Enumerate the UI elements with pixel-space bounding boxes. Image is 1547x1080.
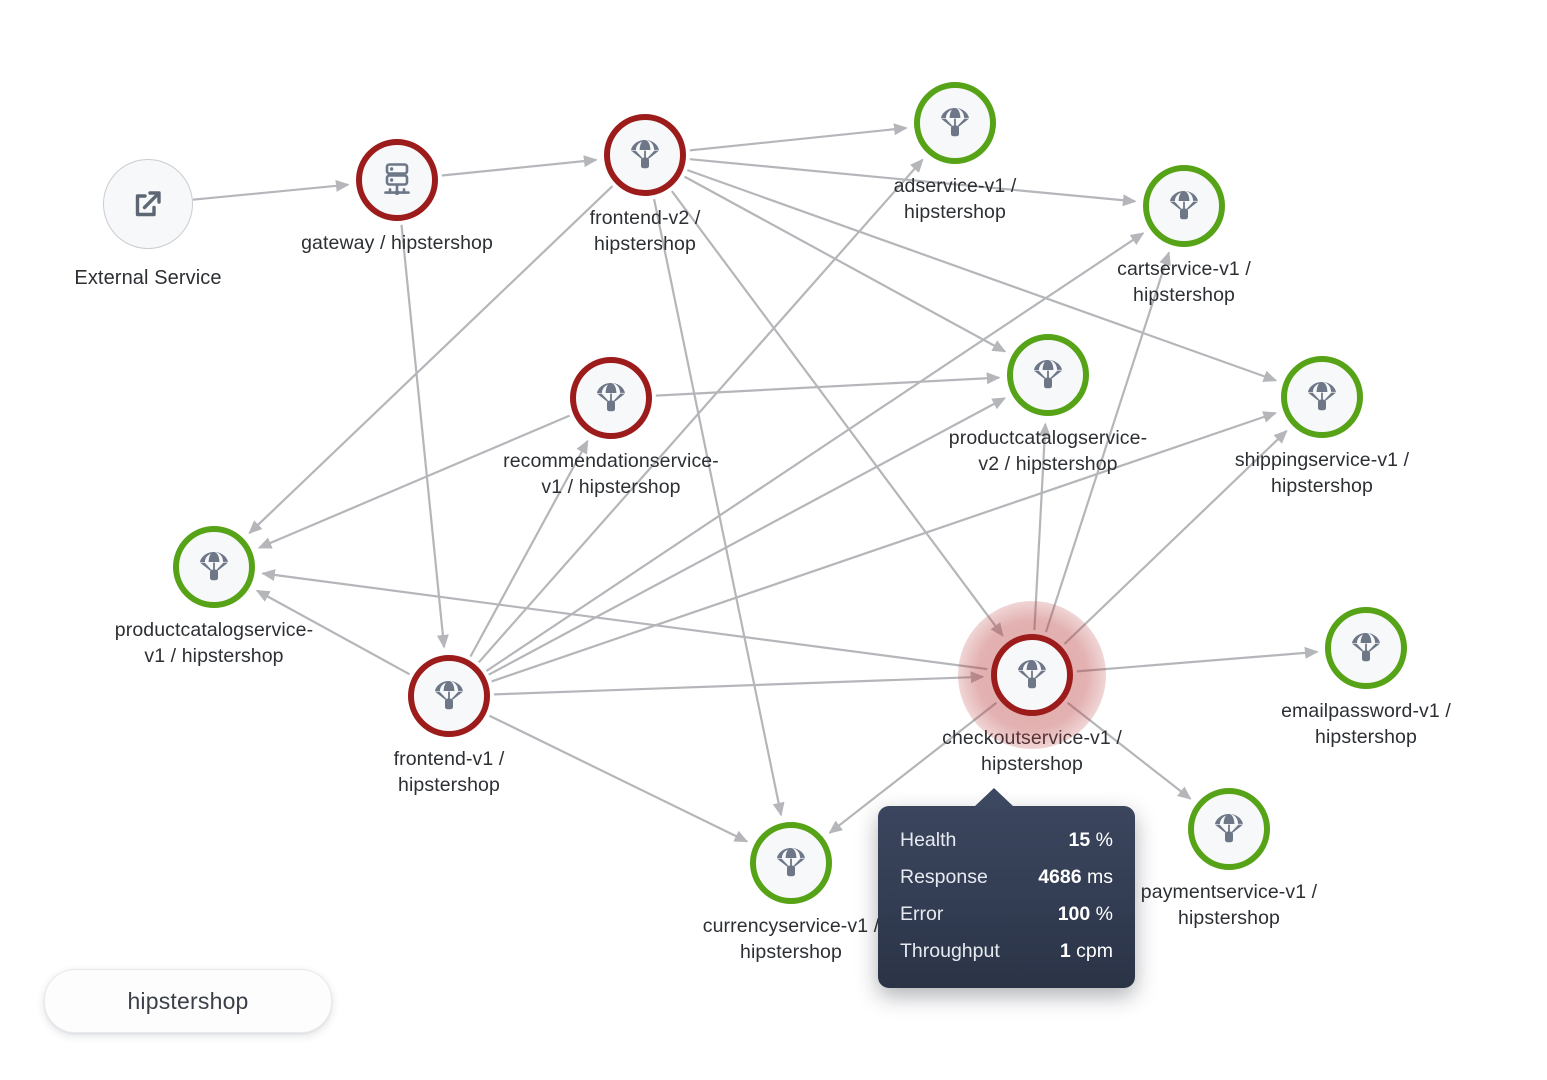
tooltip-metric-key: Health: [900, 829, 956, 852]
edge-external-to-gateway: [193, 185, 348, 200]
edge-gateway-to-frontend-v1: [402, 225, 445, 647]
edge-frontend-v1-to-adservice-v1: [479, 160, 923, 663]
service-node-shippingservice-v1[interactable]: shippingservice-v1 /hipstershop: [1281, 356, 1363, 438]
node-label-frontend-v1: frontend-v1 /hipstershop: [394, 746, 505, 799]
node-circle-shippingservice-v1[interactable]: [1281, 356, 1363, 438]
parachute-icon: [625, 135, 665, 175]
node-label-line: hipstershop: [1117, 282, 1251, 308]
node-circle-external[interactable]: [103, 159, 193, 249]
node-label-cartservice-v1: cartservice-v1 /hipstershop: [1117, 256, 1251, 309]
node-label-line: currencyservice-v1 /: [703, 913, 879, 939]
parachute-icon: [1028, 355, 1068, 395]
node-label-line: paymentservice-v1 /: [1141, 879, 1317, 905]
parachute-icon: [1012, 655, 1052, 695]
service-node-frontend-v2[interactable]: frontend-v2 /hipstershop: [604, 114, 686, 196]
tooltip-metric-unit: cpm: [1076, 940, 1113, 962]
node-label-line: hipstershop: [590, 231, 701, 257]
node-label-line: productcatalogservice-: [115, 617, 313, 643]
tooltip-row: Error100 %: [900, 896, 1113, 933]
tooltip-metric-key: Response: [900, 866, 988, 889]
tooltip-metric-number: 15: [1069, 829, 1091, 851]
parachute-icon: [194, 547, 234, 587]
group-pill-label: hipstershop: [127, 988, 248, 1015]
tooltip-metric-unit: %: [1096, 829, 1113, 851]
service-node-checkoutservice-v1[interactable]: checkoutservice-v1 /hipstershop: [991, 634, 1073, 716]
node-label-emailpassword-v1: emailpassword-v1 /hipstershop: [1281, 698, 1451, 751]
parachute-icon: [429, 676, 469, 716]
edge-frontend-v1-to-checkoutservice-v1: [494, 677, 983, 695]
tooltip-metric-number: 4686: [1038, 866, 1081, 888]
tooltip-metric-unit: ms: [1087, 866, 1113, 888]
edge-frontend-v1-to-currencyservice-v1: [489, 716, 747, 842]
node-label-line: recommendationservice-: [503, 448, 719, 474]
node-label-line: hipstershop: [894, 199, 1017, 225]
tooltip-metric-unit: %: [1096, 903, 1113, 925]
edge-frontend-v2-to-currencyservice-v1: [654, 199, 781, 815]
service-node-emailpassword-v1[interactable]: emailpassword-v1 /hipstershop: [1325, 607, 1407, 689]
node-label-line: shippingservice-v1 /: [1235, 447, 1409, 473]
edge-checkoutservice-v1-to-emailpassword-v1: [1077, 652, 1317, 672]
service-node-productcatalog-v1[interactable]: productcatalogservice-v1 / hipstershop: [173, 526, 255, 608]
tooltip-row: Health15 %: [900, 822, 1113, 859]
tooltip-metric-key: Throughput: [900, 940, 1000, 963]
node-label-line: v1 / hipstershop: [503, 474, 719, 500]
node-circle-emailpassword-v1[interactable]: [1325, 607, 1407, 689]
edge-recommendation-v1-to-productcatalog-v2: [656, 378, 999, 396]
tooltip-metric-value: 4686 ms: [1038, 866, 1113, 889]
node-circle-currencyservice-v1[interactable]: [750, 822, 832, 904]
service-node-paymentservice-v1[interactable]: paymentservice-v1 /hipstershop: [1188, 788, 1270, 870]
service-node-currencyservice-v1[interactable]: currencyservice-v1 /hipstershop: [750, 822, 832, 904]
tooltip-row: Throughput1 cpm: [900, 933, 1113, 970]
parachute-icon: [1209, 809, 1249, 849]
node-circle-frontend-v1[interactable]: [408, 655, 490, 737]
node-circle-cartservice-v1[interactable]: [1143, 165, 1225, 247]
node-label-line: v2 / hipstershop: [949, 451, 1147, 477]
node-label-currencyservice-v1: currencyservice-v1 /hipstershop: [703, 913, 879, 966]
node-label-line: External Service: [74, 265, 221, 292]
node-label-line: adservice-v1 /: [894, 173, 1017, 199]
node-label-line: cartservice-v1 /: [1117, 256, 1251, 282]
tooltip-rows: Health15 %Response4686 msError100 %Throu…: [900, 822, 1113, 970]
parachute-icon: [1302, 377, 1342, 417]
node-circle-gateway[interactable]: [356, 139, 438, 221]
service-node-external[interactable]: External Service: [103, 159, 193, 249]
parachute-icon: [591, 378, 631, 418]
node-circle-recommendation-v1[interactable]: [570, 357, 652, 439]
service-node-productcatalog-v2[interactable]: productcatalogservice-v2 / hipstershop: [1007, 334, 1089, 416]
edge-frontend-v2-to-adservice-v1: [690, 128, 907, 150]
service-node-cartservice-v1[interactable]: cartservice-v1 /hipstershop: [1143, 165, 1225, 247]
node-label-line: hipstershop: [703, 939, 879, 965]
node-label-external: External Service: [74, 265, 221, 292]
service-node-recommendation-v1[interactable]: recommendationservice-v1 / hipstershop: [570, 357, 652, 439]
tooltip-metric-value: 1 cpm: [1060, 940, 1113, 963]
node-label-line: emailpassword-v1 /: [1281, 698, 1451, 724]
tooltip-metric-key: Error: [900, 903, 943, 926]
tooltip-row: Response4686 ms: [900, 859, 1113, 896]
node-label-line: frontend-v2 /: [590, 205, 701, 231]
node-label-line: productcatalogservice-: [949, 425, 1147, 451]
service-topology-canvas[interactable]: External Service gateway / hipstershop f…: [0, 0, 1547, 1080]
parachute-icon: [1346, 628, 1386, 668]
node-label-paymentservice-v1: paymentservice-v1 /hipstershop: [1141, 879, 1317, 932]
edge-frontend-v1-to-productcatalog-v2: [489, 398, 1005, 675]
node-label-line: hipstershop: [1141, 905, 1317, 931]
tooltip-metric-value: 100 %: [1058, 903, 1113, 926]
tooltip-metric-value: 15 %: [1069, 829, 1113, 852]
node-label-line: gateway / hipstershop: [301, 230, 493, 256]
node-circle-adservice-v1[interactable]: [914, 82, 996, 164]
parachute-icon: [1164, 186, 1204, 226]
service-node-adservice-v1[interactable]: adservice-v1 /hipstershop: [914, 82, 996, 164]
parachute-icon: [935, 103, 975, 143]
tooltip-metric-number: 100: [1058, 903, 1091, 925]
node-circle-checkoutservice-v1[interactable]: [991, 634, 1073, 716]
group-pill-hipstershop[interactable]: hipstershop: [44, 969, 332, 1033]
node-circle-paymentservice-v1[interactable]: [1188, 788, 1270, 870]
node-circle-productcatalog-v1[interactable]: [173, 526, 255, 608]
node-label-recommendation-v1: recommendationservice-v1 / hipstershop: [503, 448, 719, 501]
service-node-gateway[interactable]: gateway / hipstershop: [356, 139, 438, 221]
parachute-icon: [771, 843, 811, 883]
node-label-line: hipstershop: [1281, 724, 1451, 750]
tooltip-beak: [974, 788, 1014, 807]
edge-gateway-to-frontend-v2: [442, 160, 596, 176]
node-circle-productcatalog-v2[interactable]: [1007, 334, 1089, 416]
node-label-productcatalog-v2: productcatalogservice-v2 / hipstershop: [949, 425, 1147, 478]
node-label-line: hipstershop: [942, 751, 1122, 777]
node-label-line: hipstershop: [394, 772, 505, 798]
node-label-line: frontend-v1 /: [394, 746, 505, 772]
metrics-tooltip: Health15 %Response4686 msError100 %Throu…: [878, 806, 1135, 988]
tooltip-metric-number: 1: [1060, 940, 1071, 962]
service-node-frontend-v1[interactable]: frontend-v1 /hipstershop: [408, 655, 490, 737]
external-link-icon: [126, 182, 170, 226]
node-label-productcatalog-v1: productcatalogservice-v1 / hipstershop: [115, 617, 313, 670]
node-label-line: hipstershop: [1235, 473, 1409, 499]
node-label-frontend-v2: frontend-v2 /hipstershop: [590, 205, 701, 258]
node-label-shippingservice-v1: shippingservice-v1 /hipstershop: [1235, 447, 1409, 500]
node-label-adservice-v1: adservice-v1 /hipstershop: [894, 173, 1017, 226]
node-label-gateway: gateway / hipstershop: [301, 230, 493, 256]
node-circle-frontend-v2[interactable]: [604, 114, 686, 196]
server-rack-icon: [376, 159, 418, 201]
edge-checkoutservice-v1-to-productcatalog-v1: [263, 573, 988, 669]
node-label-line: v1 / hipstershop: [115, 643, 313, 669]
